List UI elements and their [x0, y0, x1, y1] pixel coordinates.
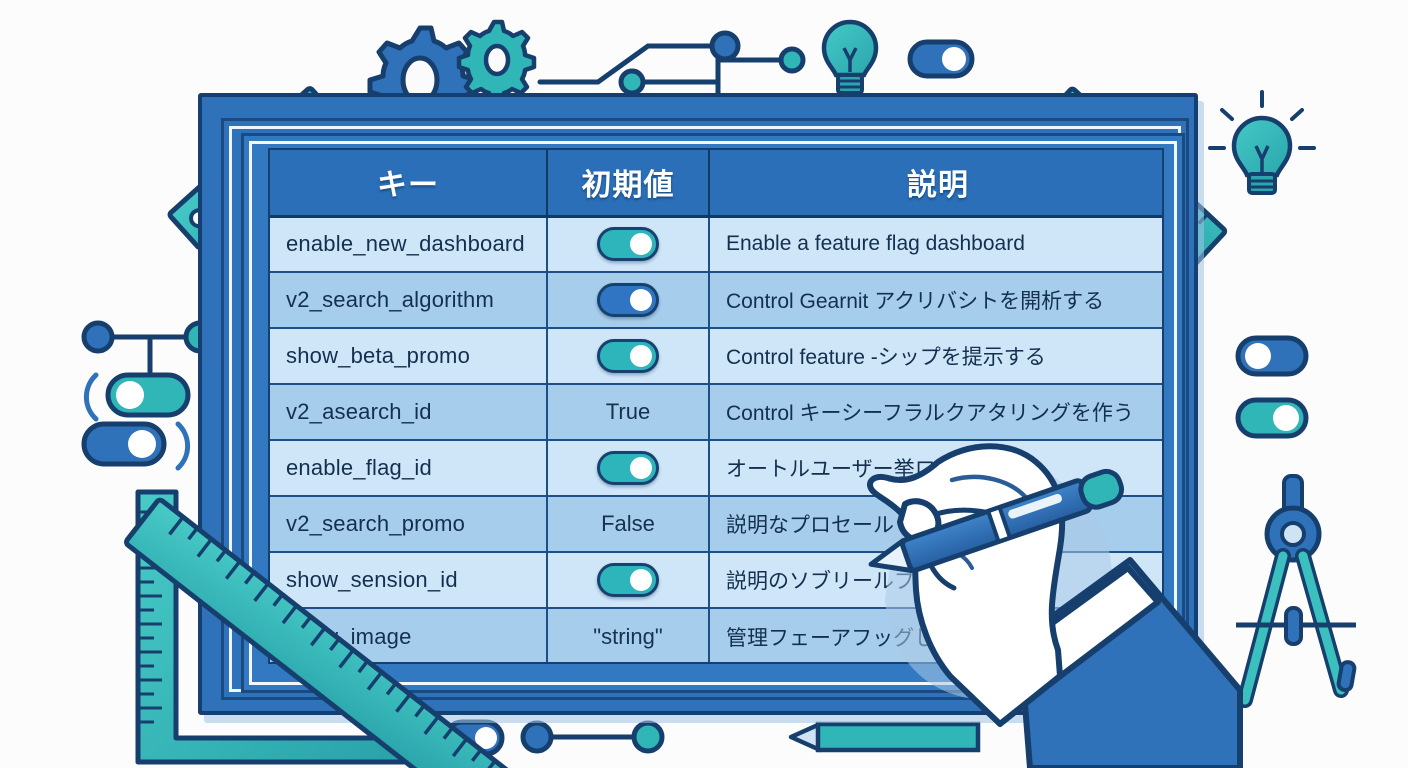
circuit-node-icon [621, 71, 643, 93]
table-row[interactable]: show_image"string"管理フェーアフッグしを一覧 [270, 608, 1164, 664]
cell-key: v2_asearch_id [270, 384, 547, 440]
cell-description: 説明なプロセール [709, 496, 1164, 552]
circuit-node-icon [712, 33, 738, 59]
cell-description: Enable a feature flag dashboard [709, 216, 1164, 272]
toggle-switch[interactable] [597, 227, 659, 261]
table-row[interactable]: v2_search_algorithmControl Gearnit アクリバシ… [270, 272, 1164, 328]
cell-default-value [547, 552, 709, 608]
toggle-knob [630, 345, 652, 367]
table-row[interactable]: v2_asearch_idTrueControl キーシーフラルクアタリングを作… [270, 384, 1164, 440]
toggle-blue-off-icon [1238, 338, 1306, 374]
cell-default-value: True [547, 384, 709, 440]
cell-default-value [547, 216, 709, 272]
toggle-switch[interactable] [597, 451, 659, 485]
toggle-switch[interactable] [597, 339, 659, 373]
cell-key: show_beta_promo [270, 328, 547, 384]
drafting-compass-icon [1236, 476, 1356, 700]
toggle-switch[interactable] [597, 283, 659, 317]
toggle-on-icon [910, 42, 972, 76]
column-header-key: キー [270, 150, 547, 216]
table-body: enable_new_dashboardEnable a feature fla… [270, 216, 1164, 664]
cell-default-value [547, 272, 709, 328]
toggle-switch[interactable] [597, 563, 659, 597]
toggle-blue-icon [446, 722, 502, 754]
cell-key: enable_flag_id [270, 440, 547, 496]
cell-description: 説明のソブリールブック [709, 552, 1164, 608]
toggle-teal-icon [86, 375, 188, 419]
value-text: "string" [593, 624, 662, 649]
value-text: True [606, 399, 650, 424]
cell-default-value [547, 328, 709, 384]
cell-key: v2_search_promo [270, 496, 547, 552]
cell-default-value: False [547, 496, 709, 552]
cell-description: Control キーシーフラルクアタリングを作う [709, 384, 1164, 440]
toggle-blue-icon [84, 424, 188, 468]
cell-default-value: "string" [547, 608, 709, 664]
column-header-desc: 説明 [709, 150, 1164, 216]
toggle-knob [630, 233, 652, 255]
toggle-knob [630, 289, 652, 311]
cell-key: show_image [270, 608, 547, 664]
cell-description: 管理フェーアフッグしを一覧 [709, 608, 1164, 664]
value-text: False [601, 511, 655, 536]
table-header-row: キー 初期値 説明 [270, 150, 1164, 216]
cell-key: show_sension_id [270, 552, 547, 608]
cell-description: Control feature -シップを提示する [709, 328, 1164, 384]
lightbulb-icon [824, 22, 876, 93]
cell-description: オートルユーザー挙ログ [709, 440, 1164, 496]
cell-key: v2_search_algorithm [270, 272, 547, 328]
table-row[interactable]: enable_flag_idオートルユーザー挙ログ [270, 440, 1164, 496]
feature-flag-table: キー 初期値 説明 enable_new_dashboardEnable a f… [268, 148, 1164, 664]
circuit-node-icon [781, 49, 803, 71]
cell-key: enable_new_dashboard [270, 216, 547, 272]
pencil-icon [791, 724, 978, 750]
table-row[interactable]: enable_new_dashboardEnable a feature fla… [270, 216, 1164, 272]
gear-small-icon [459, 22, 534, 103]
toggle-knob [630, 569, 652, 591]
node-connector-icon [84, 323, 214, 372]
table-row[interactable]: show_sension_id説明のソブリールブック [270, 552, 1164, 608]
illustration-canvas: キー 初期値 説明 enable_new_dashboardEnable a f… [0, 0, 1408, 768]
column-header-value: 初期値 [547, 150, 709, 216]
table-row[interactable]: show_beta_promoControl feature -シップを提示する [270, 328, 1164, 384]
toggle-teal-on-icon [1238, 400, 1306, 436]
lightbulb-glow-icon [1210, 92, 1314, 193]
cell-description: Control Gearnit アクリバシトを開析する [709, 272, 1164, 328]
cell-default-value [547, 440, 709, 496]
toggle-knob [630, 457, 652, 479]
table-row[interactable]: v2_search_promoFalse説明なプロセール [270, 496, 1164, 552]
node-link-icon [523, 723, 662, 751]
